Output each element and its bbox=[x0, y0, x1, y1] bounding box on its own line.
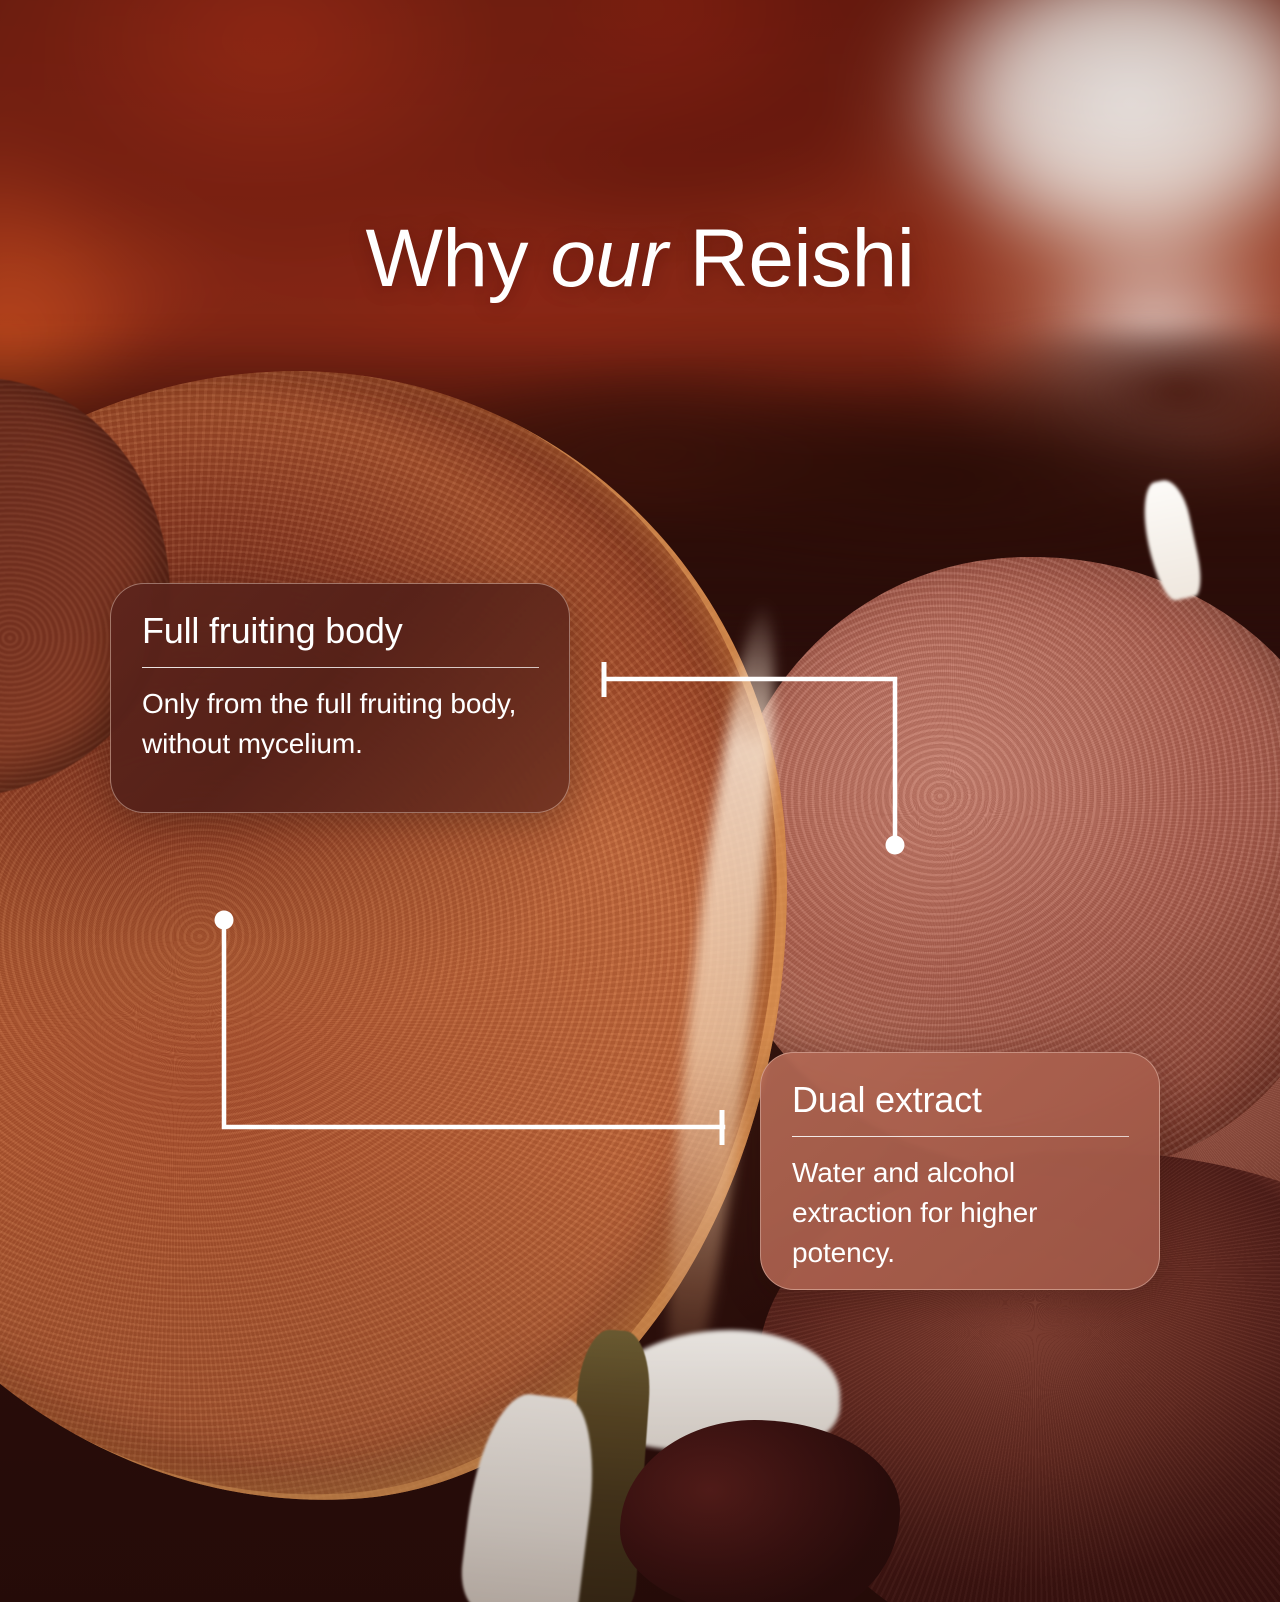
callout-card-dual-extract: Dual extract Water and alcohol extractio… bbox=[760, 1052, 1160, 1290]
callout-title: Dual extract bbox=[792, 1079, 1129, 1121]
title-emphasis: our bbox=[550, 213, 667, 304]
hero-banner: Why our Reishi Full fruiting body Only f… bbox=[0, 0, 1280, 1602]
callout-body: Only from the full fruiting body, withou… bbox=[142, 684, 539, 764]
page-title: Why our Reishi bbox=[0, 216, 1280, 302]
title-lead: Why bbox=[366, 213, 551, 304]
title-tail: Reishi bbox=[667, 213, 914, 304]
callout-card-full-fruiting-body: Full fruiting body Only from the full fr… bbox=[110, 583, 570, 813]
callout-divider bbox=[142, 667, 539, 668]
callout-title: Full fruiting body bbox=[142, 610, 539, 652]
callout-body: Water and alcohol extraction for higher … bbox=[792, 1153, 1129, 1272]
callout-divider bbox=[792, 1136, 1129, 1137]
